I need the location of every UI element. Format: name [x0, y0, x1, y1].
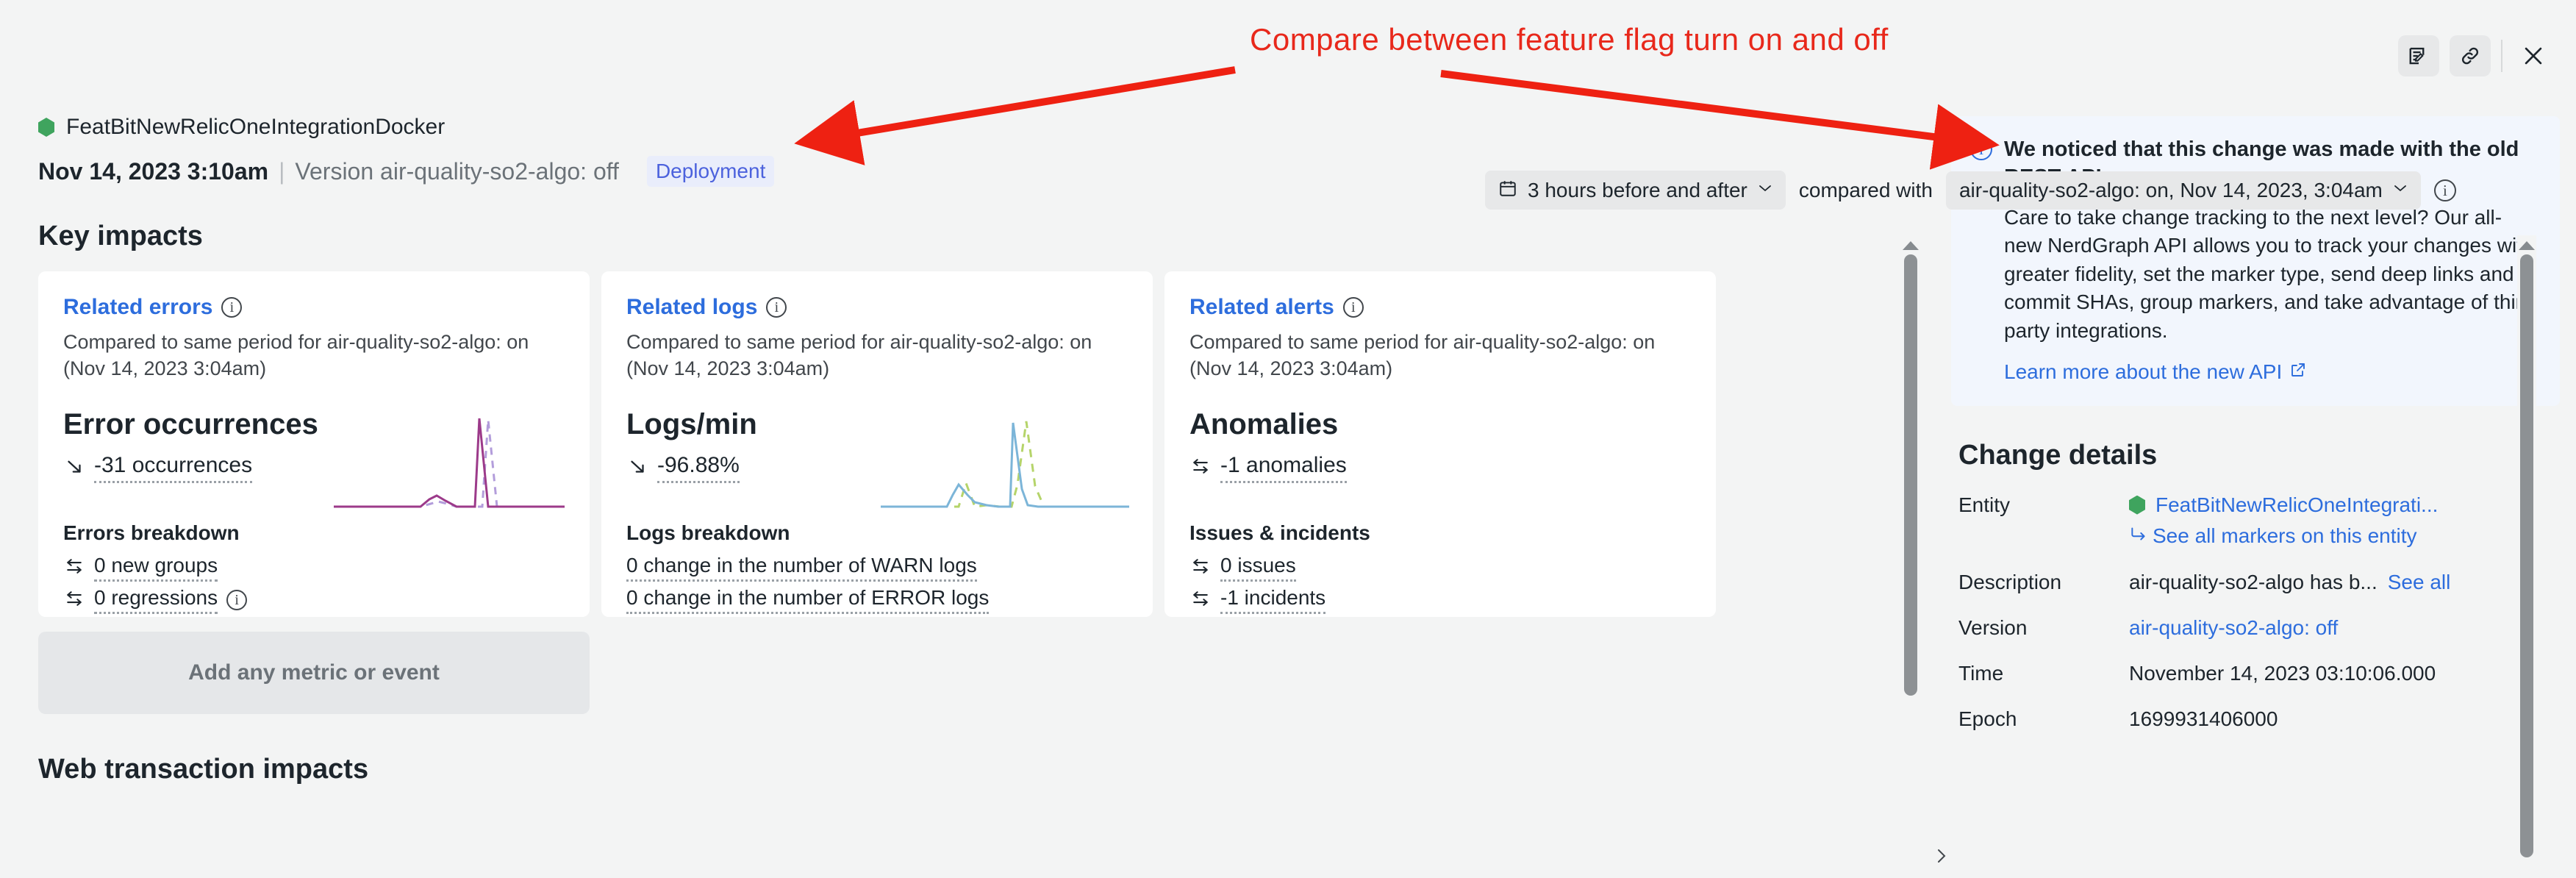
description-text: air-quality-so2-algo has b...	[2129, 571, 2378, 594]
detail-value: FeatBitNewRelicOneIntegrati... See all m…	[2129, 493, 2560, 549]
scrollbar-thumb[interactable]	[1904, 254, 1917, 696]
breakdown-item: 0 issues	[1189, 554, 1691, 582]
related-alerts-card: Related alerts i Compared to same period…	[1164, 271, 1716, 617]
metric-delta-value[interactable]: -31 occurrences	[94, 453, 252, 483]
change-date: Nov 14, 2023 3:10am	[38, 158, 268, 185]
card-subtitle: Compared to same period for air-quality-…	[626, 329, 1128, 382]
metric-block: Error occurrences -31 occurrences	[63, 408, 565, 483]
edit-note-icon[interactable]	[2398, 35, 2439, 76]
entity-name: FeatBitNewRelicOneIntegrationDocker	[66, 115, 445, 140]
metric-delta-value[interactable]: -96.88%	[657, 453, 740, 483]
window-actions	[2398, 35, 2554, 76]
breakdown-item: -1 incidents	[1189, 586, 1691, 614]
no-change-arrows-icon	[1189, 588, 1212, 613]
detail-label: Entity	[1958, 493, 2129, 517]
scrollbar-thumb[interactable]	[2520, 254, 2533, 857]
related-errors-link[interactable]: Related errors	[63, 295, 212, 320]
card-header: Related alerts i	[1189, 295, 1691, 320]
meta-separator: |	[279, 158, 285, 185]
related-logs-link[interactable]: Related logs	[626, 295, 757, 320]
breakdown-title: Issues & incidents	[1189, 521, 1691, 545]
breakdown-item: 0 change in the number of WARN logs	[626, 554, 1128, 582]
see-all-description-link[interactable]: See all	[2388, 571, 2451, 594]
chevron-down-icon	[1758, 183, 1772, 197]
external-link-icon	[2289, 360, 2307, 384]
time-value: November 14, 2023 03:10:06.000	[2129, 662, 2560, 685]
detail-label: Version	[1958, 616, 2129, 640]
change-details-title: Change details	[1958, 440, 2560, 471]
detail-row-description: Description air-quality-so2-algo has b..…	[1958, 571, 2560, 594]
entity-hexagon-icon	[38, 118, 54, 137]
rest-api-notice: i We noticed that this change was made w…	[1951, 116, 2560, 406]
breakdown-text[interactable]: 0 change in the number of WARN logs	[626, 554, 977, 582]
metric-block: Logs/min -96.88%	[626, 408, 1128, 483]
change-details-section: Change details Entity FeatBitNewRelicOne…	[1958, 440, 2560, 731]
detail-row-entity: Entity FeatBitNewRelicOneIntegrati... Se…	[1958, 493, 2560, 549]
epoch-value: 1699931406000	[2129, 707, 2560, 731]
related-alerts-link[interactable]: Related alerts	[1189, 295, 1334, 320]
breakdown-text[interactable]: 0 change in the number of ERROR logs	[626, 586, 989, 614]
card-subtitle: Compared to same period for air-quality-…	[63, 329, 565, 382]
breakdown-text[interactable]: 0 new groups	[94, 554, 218, 582]
breakdown-item: 0 change in the number of ERROR logs	[626, 586, 1128, 614]
card-header: Related errors i	[63, 295, 565, 320]
metric-delta-value[interactable]: -1 anomalies	[1220, 453, 1347, 483]
learn-more-label: Learn more about the new API	[2004, 360, 2282, 384]
comparison-toolbar: 3 hours before and after compared with a…	[1485, 171, 2456, 210]
add-metric-or-event-button[interactable]: Add any metric or event	[38, 632, 590, 714]
info-icon[interactable]: i	[221, 297, 242, 318]
arrow-turn-right-icon	[2129, 524, 2148, 549]
card-subtitle: Compared to same period for air-quality-…	[1189, 329, 1691, 382]
expand-chevron-icon[interactable]	[1933, 846, 1950, 871]
related-errors-card: Related errors i Compared to same period…	[38, 271, 590, 617]
no-change-arrows-icon	[63, 555, 85, 581]
entity-header: FeatBitNewRelicOneIntegrationDocker	[38, 115, 1906, 140]
comparison-selector[interactable]: air-quality-so2-algo: on, Nov 14, 2023, …	[1946, 171, 2421, 210]
breakdown-text[interactable]: 0 issues	[1220, 554, 1296, 582]
card-header: Related logs i	[626, 295, 1128, 320]
metric-delta: -1 anomalies	[1189, 453, 1691, 483]
close-icon[interactable]	[2513, 35, 2554, 76]
breakdown-title: Errors breakdown	[63, 521, 565, 545]
scroll-up-arrow-icon[interactable]	[2519, 241, 2535, 250]
breakdown-list: 0 issues -1 incidents	[1189, 554, 1691, 614]
breakdown-list: 0 new groups 0 regressions i	[63, 554, 565, 614]
detail-row-epoch: Epoch 1699931406000	[1958, 707, 2560, 731]
scroll-up-arrow-icon[interactable]	[1903, 241, 1919, 250]
info-icon[interactable]: i	[226, 590, 247, 610]
error-occurrences-sparkline	[328, 413, 570, 519]
entity-link-row: FeatBitNewRelicOneIntegrati...	[2129, 493, 2560, 517]
link-icon[interactable]	[2450, 35, 2491, 76]
arrow-down-right-icon	[626, 455, 648, 481]
chevron-down-icon	[2393, 183, 2408, 197]
breakdown-list: 0 change in the number of WARN logs 0 ch…	[626, 554, 1128, 614]
time-range-label: 3 hours before and after	[1528, 179, 1747, 202]
detail-label: Description	[1958, 571, 2129, 594]
entity-hexagon-icon	[2129, 496, 2145, 515]
breakdown-text[interactable]: 0 regressions	[94, 586, 218, 614]
detail-label: Epoch	[1958, 707, 2129, 731]
web-transaction-impacts-title: Web transaction impacts	[38, 754, 1906, 785]
info-icon[interactable]: i	[766, 297, 787, 318]
key-impacts-title: Key impacts	[38, 221, 1906, 252]
entity-link[interactable]: FeatBitNewRelicOneIntegrati...	[2155, 493, 2560, 517]
main-pane-scrollbar[interactable]	[1901, 235, 1920, 878]
info-icon[interactable]: i	[2434, 179, 2456, 201]
calendar-icon	[1498, 178, 1517, 202]
metric-title: Anomalies	[1189, 408, 1691, 441]
version-link[interactable]: air-quality-so2-algo: off	[2129, 616, 2560, 640]
metric-block: Anomalies -1 anomalies	[1189, 408, 1691, 483]
breakdown-item: 0 new groups	[63, 554, 565, 582]
info-icon[interactable]: i	[1343, 297, 1364, 318]
detail-value: air-quality-so2-algo has b... See all	[2129, 571, 2560, 594]
learn-more-link[interactable]: Learn more about the new API	[2004, 360, 2307, 384]
detail-row-version: Version air-quality-so2-algo: off	[1958, 616, 2560, 640]
no-change-arrows-icon	[63, 588, 85, 613]
change-version: Version air-quality-so2-algo: off	[295, 158, 619, 185]
main-content-pane: FeatBitNewRelicOneIntegrationDocker Nov …	[0, 96, 1906, 878]
related-logs-card: Related logs i Compared to same period f…	[601, 271, 1153, 617]
details-pane-scrollbar[interactable]	[2517, 235, 2536, 878]
notice-body: Care to take change tracking to the next…	[2004, 204, 2539, 346]
annotation-label: Compare between feature flag turn on and…	[1250, 22, 1889, 57]
no-change-arrows-icon	[1189, 455, 1212, 481]
details-pane: i We noticed that this change was made w…	[1928, 96, 2576, 878]
info-icon: i	[1970, 138, 1992, 160]
comparison-value: air-quality-so2-algo: on, Nov 14, 2023, …	[1959, 179, 2383, 202]
no-change-arrows-icon	[1189, 555, 1212, 581]
deployment-badge[interactable]: Deployment	[647, 156, 774, 187]
breakdown-text[interactable]: -1 incidents	[1220, 586, 1325, 614]
see-all-markers-link[interactable]: See all markers on this entity	[2129, 524, 2560, 549]
impact-cards: Related errors i Compared to same period…	[38, 271, 1906, 617]
detail-label: Time	[1958, 662, 2129, 685]
action-divider	[2501, 40, 2502, 72]
arrow-down-right-icon	[63, 455, 85, 481]
breakdown-title: Logs breakdown	[626, 521, 1128, 545]
time-range-selector[interactable]: 3 hours before and after	[1485, 171, 1786, 210]
compared-with-label: compared with	[1799, 179, 1933, 202]
detail-row-time: Time November 14, 2023 03:10:06.000	[1958, 662, 2560, 685]
logs-per-min-sparkline	[876, 413, 1134, 519]
see-all-markers-label: See all markers on this entity	[2153, 524, 2417, 548]
breakdown-item: 0 regressions i	[63, 586, 565, 614]
